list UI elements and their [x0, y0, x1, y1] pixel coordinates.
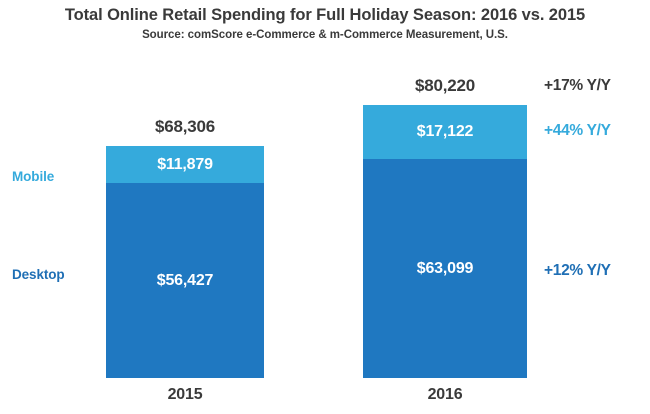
bar-segment-desktop-2015[interactable]: $56,427	[106, 183, 264, 378]
annotation-mobile-yoy: +44% Y/Y	[544, 122, 611, 140]
plot-area: Mobile Desktop $68,306 $11,879 $56,427 2…	[0, 0, 650, 414]
bar-value-mobile-2015: $11,879	[157, 157, 213, 173]
annotation-desktop-yoy: +12% Y/Y	[544, 262, 611, 280]
chart-container: Total Online Retail Spending for Full Ho…	[0, 0, 650, 414]
bar-segment-desktop-2016[interactable]: $63,099	[363, 159, 527, 378]
total-label-2015: $68,306	[106, 117, 264, 137]
x-axis-label-2016: 2016	[363, 386, 527, 404]
bar-segment-mobile-2015[interactable]: $11,879	[106, 146, 264, 183]
stacked-bar-2015: $11,879 $56,427	[106, 146, 264, 378]
series-label-desktop: Desktop	[12, 267, 65, 282]
bar-group-2016: $80,220 $17,122 $63,099 2016	[363, 105, 527, 378]
bar-segment-mobile-2016[interactable]: $17,122	[363, 105, 527, 159]
bar-value-mobile-2016: $17,122	[417, 124, 473, 140]
bar-value-desktop-2016: $63,099	[417, 261, 473, 277]
annotation-total-yoy: +17% Y/Y	[544, 77, 611, 95]
series-label-mobile: Mobile	[12, 169, 54, 184]
total-label-2016: $80,220	[363, 76, 527, 96]
x-axis-label-2015: 2015	[106, 386, 264, 404]
stacked-bar-2016: $17,122 $63,099	[363, 105, 527, 378]
bar-group-2015: $68,306 $11,879 $56,427 2015	[106, 146, 264, 378]
bar-value-desktop-2015: $56,427	[157, 273, 213, 289]
